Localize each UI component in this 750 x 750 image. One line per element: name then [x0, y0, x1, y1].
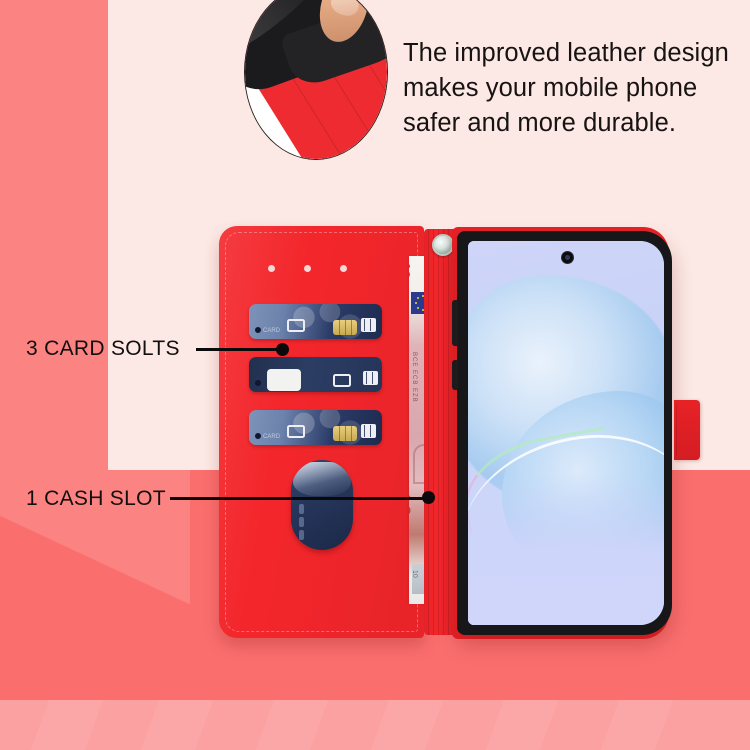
volume-button[interactable] — [452, 300, 458, 346]
callout-label-cash-slot: 1 CASH SLOT — [26, 487, 166, 511]
front-camera-icon — [561, 251, 574, 264]
background-bottom-band — [0, 700, 750, 750]
banknote-denomination: 10 — [409, 262, 413, 279]
wallet-studs — [268, 265, 352, 273]
product-infographic: The improved leather design makes your m… — [0, 0, 750, 750]
magnetic-closure-tab — [674, 400, 700, 460]
magnetic-snap-button — [432, 234, 454, 256]
banknote-large-numeral: 10 — [409, 492, 415, 516]
callout-leader-line-cash-slot — [170, 497, 428, 500]
callout-label-card-slots: 3 CARD SOLTS — [26, 337, 180, 361]
callout-dot-cash-slot — [422, 491, 435, 504]
callout-leader-line-card-slots — [196, 348, 282, 351]
card-slot-3: CARD — [249, 410, 382, 445]
cash-slot-pocket — [291, 460, 353, 550]
callout-dot-card-slots — [276, 343, 289, 356]
card-slot-1: CARD — [249, 304, 382, 339]
background-left-column — [0, 0, 108, 470]
phone-screen[interactable] — [468, 241, 664, 625]
headline-text: The improved leather design makes your m… — [403, 36, 743, 141]
card-slot-2 — [249, 357, 382, 392]
power-button[interactable] — [452, 360, 458, 390]
banknote-microtext: BCE ECB EZB — [411, 352, 417, 403]
leather-flex-closeup-inset — [244, 0, 388, 160]
wallet-flap: CARD CARD — [219, 226, 424, 638]
